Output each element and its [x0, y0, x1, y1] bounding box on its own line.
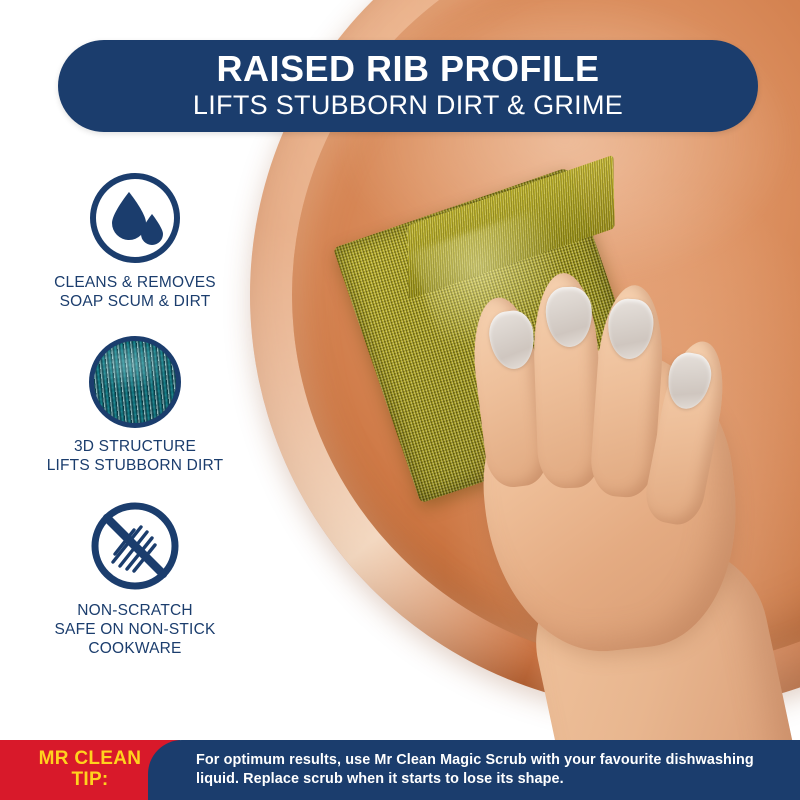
- feature-item-non-scratch: NON-SCRATCH SAFE ON NON-STICK COOKWARE: [30, 500, 240, 659]
- product-infographic: RAISED RIB PROFILE LIFTS STUBBORN DIRT &…: [0, 0, 800, 800]
- feature-caption-3d-structure: 3D STRUCTURE LIFTS STUBBORN DIRT: [47, 437, 224, 476]
- caption-line: COOKWARE: [55, 639, 216, 658]
- no-scratch-icon: [89, 500, 181, 592]
- banner-subtitle: LIFTS STUBBORN DIRT & GRIME: [193, 91, 623, 121]
- mesh-circle-frame: [89, 336, 181, 428]
- caption-line: NON-SCRATCH: [55, 601, 216, 620]
- feature-item-3d-structure: 3D STRUCTURE LIFTS STUBBORN DIRT: [30, 336, 240, 476]
- caption-line: SAFE ON NON-STICK: [55, 620, 216, 639]
- tip-bar: MR CLEAN TIP: For optimum results, use M…: [0, 740, 800, 800]
- feature-caption-non-scratch: NON-SCRATCH SAFE ON NON-STICK COOKWARE: [55, 601, 216, 659]
- feature-caption-cleans: CLEANS & REMOVES SOAP SCUM & DIRT: [54, 273, 216, 312]
- hand: [430, 255, 800, 745]
- header-banner: RAISED RIB PROFILE LIFTS STUBBORN DIRT &…: [58, 40, 758, 132]
- caption-line: LIFTS STUBBORN DIRT: [47, 456, 224, 475]
- feature-item-cleans: CLEANS & REMOVES SOAP SCUM & DIRT: [30, 172, 240, 312]
- tip-text: For optimum results, use Mr Clean Magic …: [196, 751, 784, 788]
- caption-line: SOAP SCUM & DIRT: [54, 292, 216, 311]
- tip-text-block: For optimum results, use Mr Clean Magic …: [148, 740, 800, 800]
- tip-label-line2: TIP:: [71, 770, 108, 791]
- banner-title: RAISED RIB PROFILE: [216, 51, 599, 88]
- water-droplets-icon: [89, 172, 181, 264]
- mesh-gloss-highlight: [102, 347, 172, 391]
- tip-label-line1: MR CLEAN: [39, 749, 142, 770]
- caption-line: CLEANS & REMOVES: [54, 273, 216, 292]
- feature-list: CLEANS & REMOVES SOAP SCUM & DIRT 3D STR…: [30, 172, 240, 659]
- caption-line: 3D STRUCTURE: [47, 437, 224, 456]
- mesh-texture-icon: [89, 336, 181, 428]
